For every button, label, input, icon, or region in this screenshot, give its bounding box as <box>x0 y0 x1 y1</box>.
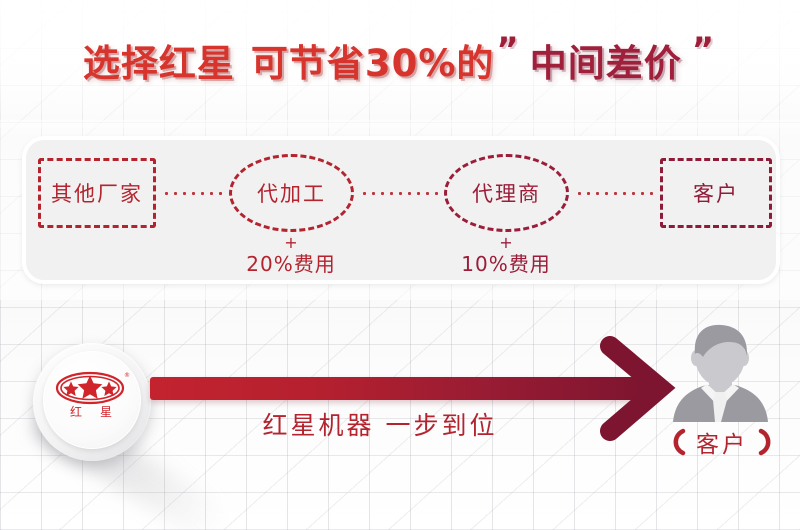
chain-node-label: 代理商 <box>472 178 541 208</box>
fee-plus-sign: + <box>411 234 601 251</box>
headline-part2: 可节省30%的 <box>251 33 495 87</box>
connector-dots-1 <box>162 192 224 195</box>
logo-char-right: 星 <box>100 405 112 419</box>
fee-plus-sign: + <box>196 234 386 251</box>
headline-emphasis: 中间差价 <box>530 33 682 87</box>
chain-node-label: 客户 <box>693 178 739 208</box>
logo-star-center <box>78 376 103 399</box>
quote-close-mark: ” <box>692 30 715 70</box>
fee-amount: 10%费用 <box>411 251 601 277</box>
connector-dots-3 <box>575 192 655 195</box>
bracket-right-icon <box>758 427 778 457</box>
supply-chain-card: 其他厂家 代加工 代理商 客户 + 20%费用 + 10%费用 <box>22 136 780 284</box>
customer-silhouette <box>663 322 778 422</box>
chain-node-label: 其他厂家 <box>51 178 143 208</box>
person-svg <box>663 322 778 422</box>
chain-node-agent: 代理商 <box>444 154 569 232</box>
fee-markup-agent: + 10%费用 <box>411 234 601 277</box>
arrow-chevron <box>610 346 660 431</box>
customer-label-group: 客户 <box>648 424 796 460</box>
poster-canvas: 选择红星 可节省30%的 ” 中间差价 ” 其他厂家 代加工 代理商 客户 <box>0 0 800 530</box>
bracket-left-icon <box>666 427 686 457</box>
fee-amount: 20%费用 <box>196 251 386 277</box>
logo-svg: ® 红 星 <box>52 366 132 422</box>
customer-label-text: 客户 <box>696 425 748 459</box>
person-ear-right <box>739 350 749 366</box>
quote-open-mark: ” <box>496 30 519 70</box>
headline-part1: 选择红星 <box>83 33 235 87</box>
logo-char-left: 红 <box>70 404 82 419</box>
chain-node-other-factory: 其他厂家 <box>38 158 156 228</box>
chain-node-customer: 客户 <box>660 158 772 228</box>
headline: 选择红星 可节省30%的 ” 中间差价 ” <box>0 30 800 90</box>
supply-chain-flow: 其他厂家 代加工 代理商 客户 + 20%费用 + 10%费用 <box>26 140 776 280</box>
registered-mark: ® <box>124 372 130 379</box>
progress-arrow-shaft <box>150 377 650 400</box>
connector-dots-2 <box>360 192 440 195</box>
fee-markup-oem: + 20%费用 <box>196 234 386 277</box>
chain-node-label: 代加工 <box>257 178 326 208</box>
hongxing-logo: ® 红 星 <box>52 366 132 422</box>
arrow-caption: 红星机器 一步到位 <box>150 406 610 442</box>
chain-node-oem-processing: 代加工 <box>229 154 354 232</box>
